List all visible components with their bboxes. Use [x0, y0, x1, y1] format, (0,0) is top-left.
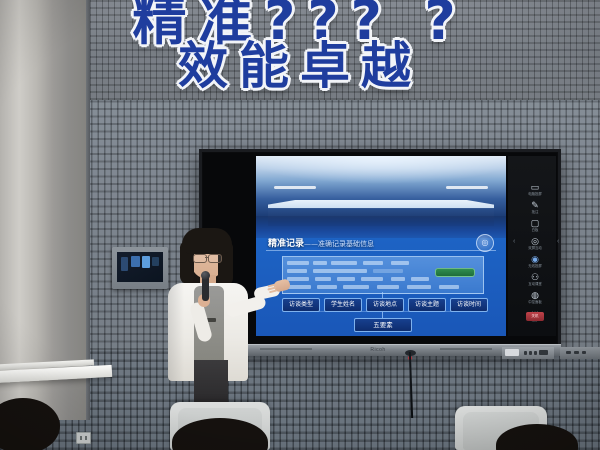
slide-button-interview-topic[interactable]: 访谈主题	[408, 298, 446, 312]
bezel-vent-right	[440, 348, 492, 350]
ceiling-light-right	[446, 186, 488, 189]
io-plate-label	[505, 349, 519, 356]
share-caption: 双屏互动	[524, 246, 546, 250]
slide-form-screenshot	[282, 256, 484, 294]
share-glyph: ◎	[524, 236, 546, 246]
smartboard-brand-logo: Ricoh	[355, 346, 401, 354]
presenter-figure	[158, 228, 288, 398]
form-row	[287, 285, 479, 290]
share-icon[interactable]: ◎ 双屏互动	[524, 236, 546, 253]
wall-io-plate-right[interactable]	[560, 347, 600, 359]
slide-logo-icon: ◎	[476, 234, 494, 252]
control-tile-1[interactable]	[121, 257, 128, 271]
pen-glyph: ✎	[524, 200, 546, 210]
ceiling-arc-2	[256, 156, 506, 202]
pen-icon[interactable]: ✎ 批注	[524, 200, 546, 217]
smartboard-toolbar-items: ▭ 电脑投屏 ✎ 批注 ▢ 白板 ◎ 双屏互动 ◉ 无线投屏 ⚇ 互动课堂 ◍ …	[524, 182, 546, 330]
bulb-icon[interactable]: ◍ 中控面板	[524, 290, 546, 307]
slide-photo-base	[256, 216, 506, 238]
handheld-microphone-head	[201, 271, 210, 280]
pen-caption: 批注	[524, 210, 546, 214]
toolbar-expand-arrow[interactable]: ‹	[513, 238, 515, 245]
screen-caption: 白板	[524, 228, 546, 232]
presenter-glasses-left	[193, 254, 207, 263]
bulb-caption: 中控面板	[524, 300, 546, 304]
people-icon[interactable]: ⚇ 互动课堂	[524, 272, 546, 289]
slide-button-five-elements[interactable]: 五要素	[354, 318, 412, 332]
control-status-bar	[121, 274, 159, 278]
connector-vertical-2	[382, 311, 383, 318]
screenshot-root: 精准??? ? 效能卓越 精准记录——准确记录基础信息 ◎	[0, 0, 600, 450]
presenter-glasses-bridge	[205, 257, 208, 258]
cast-glyph: ◉	[524, 254, 546, 264]
people-glyph: ⚇	[524, 272, 546, 282]
presenter-glasses-right	[208, 254, 222, 263]
slide-title-dash: ——	[304, 240, 318, 248]
bulb-glyph: ◍	[524, 290, 546, 300]
presenter-trousers	[194, 360, 228, 404]
wall-power-outlet	[76, 432, 91, 444]
slide-title-underline	[266, 250, 496, 251]
presentation-slide[interactable]: 精准记录——准确记录基础信息 ◎	[256, 156, 506, 336]
power-off-button[interactable]: 关机	[526, 312, 544, 321]
laptop-glyph: ▭	[524, 182, 546, 192]
slide-button-interview-time[interactable]: 访谈时间	[450, 298, 488, 312]
slide-element-button-row: 访谈类型 学生姓名 访谈地点 访谈主题 访谈时间	[282, 298, 484, 310]
cast-caption: 无线投屏	[524, 264, 546, 268]
slide-button-interview-place[interactable]: 访谈地点	[366, 298, 404, 312]
wall-control-panel-screen[interactable]	[117, 252, 163, 282]
screen-glyph: ▢	[524, 218, 546, 228]
control-tile-2[interactable]	[131, 256, 140, 267]
control-tile-3[interactable]	[142, 256, 150, 268]
slide-form-save-button[interactable]	[435, 268, 475, 277]
people-caption: 互动课堂	[524, 282, 546, 286]
presenter-shirt-shadow	[168, 283, 184, 381]
slide-title: 精准记录——准确记录基础信息	[268, 236, 428, 250]
form-row	[287, 261, 479, 266]
toolbar-expand-arrow-right[interactable]: ‹	[557, 238, 559, 245]
screen-icon[interactable]: ▢ 白板	[524, 218, 546, 235]
presenter-hair-front	[182, 228, 232, 254]
laptop-icon[interactable]: ▭ 电脑投屏	[524, 182, 546, 199]
slide-title-sub: 准确记录基础信息	[318, 240, 374, 248]
cast-icon[interactable]: ◉ 无线投屏	[524, 254, 546, 271]
banner-headline-line2: 效能卓越	[0, 26, 600, 98]
ceiling-light-left	[274, 186, 316, 189]
form-row	[287, 277, 479, 282]
slide-button-student-name[interactable]: 学生姓名	[324, 298, 362, 312]
laptop-caption: 电脑投屏	[524, 192, 546, 196]
